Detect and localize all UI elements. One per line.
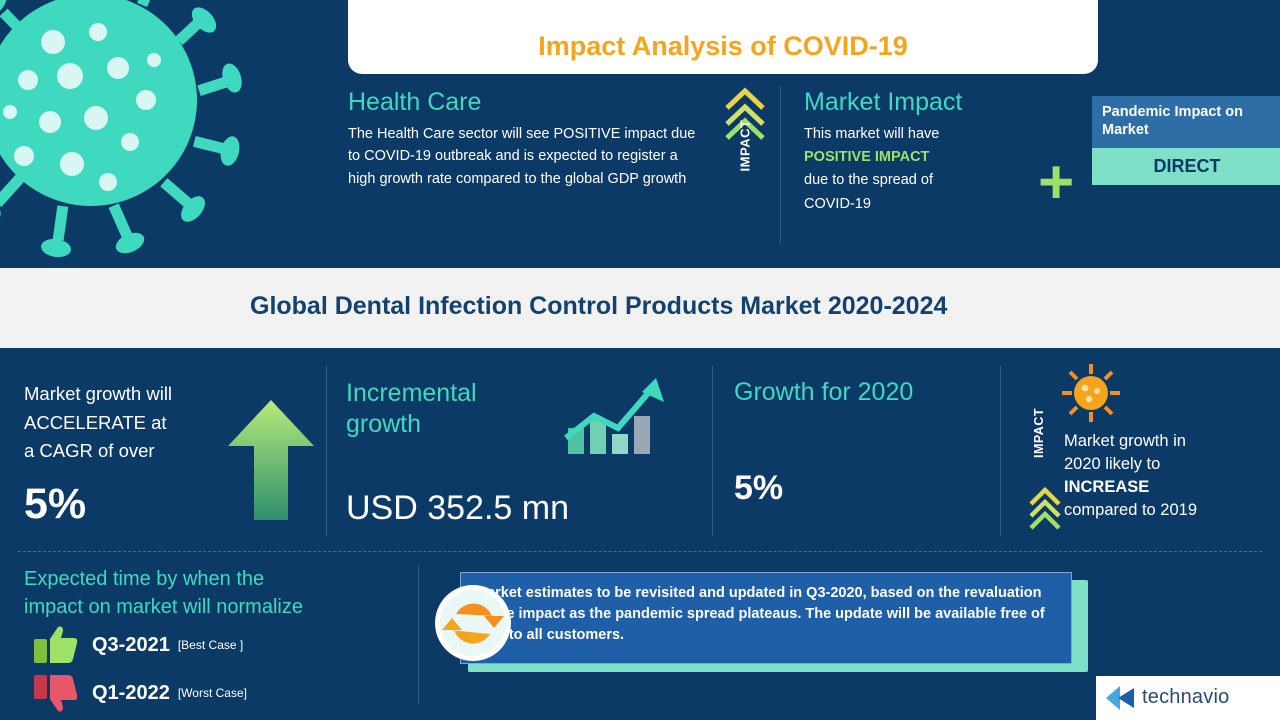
refresh-cycle-icon — [434, 584, 512, 662]
market-impact-line1: This market will have — [804, 126, 939, 142]
impact-2020-line3: compared to 2019 — [1064, 501, 1197, 519]
impact-2020-vertical-label: IMPACT — [1032, 378, 1046, 488]
impact-vertical-label: IMPACT — [738, 91, 753, 201]
market-growth-line3: a CAGR of over — [24, 440, 155, 461]
impact-indicator-top: IMPACT — [714, 86, 776, 246]
double-chevron-up-icon — [1028, 486, 1062, 530]
market-impact-line2: due to the spread of — [804, 172, 933, 188]
pandemic-impact-heading: Pandemic Impact on Market — [1092, 96, 1280, 148]
incremental-heading-line1: Incremental — [346, 379, 477, 407]
market-impact-heading: Market Impact — [804, 88, 1054, 117]
plus-icon: + — [1038, 152, 1074, 214]
growth-2020-value: 5% — [734, 469, 994, 508]
health-care-block: Health Care The Health Care sector will … — [348, 88, 708, 190]
impact-2020-line2: 2020 likely to — [1064, 455, 1160, 473]
impact-2020-line1: Market growth in — [1064, 432, 1186, 450]
divider — [1000, 366, 1001, 536]
worst-case-date: Q1-2022 — [92, 682, 170, 705]
growth-2020-heading: Growth for 2020 — [734, 378, 994, 407]
normalize-heading: Expected time by when the impact on mark… — [24, 565, 424, 621]
divider — [418, 565, 419, 705]
virus-sun-icon — [1060, 362, 1122, 424]
logo-text: technavio — [1142, 686, 1229, 709]
market-impact-line3: COVID-19 — [804, 196, 871, 212]
infographic-page: Impact Analysis of COVID-19 Health Care … — [0, 0, 1280, 720]
health-care-heading: Health Care — [348, 88, 708, 117]
best-case-label: [Best Case ] — [178, 638, 243, 652]
title-card: Impact Analysis of COVID-19 — [348, 0, 1098, 74]
best-case-date: Q3-2021 — [92, 634, 170, 657]
page-title: Impact Analysis of COVID-19 — [348, 31, 1098, 62]
divider — [712, 366, 713, 536]
top-section: Impact Analysis of COVID-19 Health Care … — [0, 0, 1280, 268]
pandemic-impact-box: Pandemic Impact on Market DIRECT — [1092, 96, 1280, 185]
thumbs-down-icon — [34, 673, 78, 713]
report-title-band: Global Dental Infection Control Products… — [0, 268, 1280, 348]
vertical-divider — [780, 86, 781, 244]
technavio-logo-icon — [1104, 684, 1142, 714]
logo-plate: technavio — [1096, 676, 1280, 720]
thumbs-up-icon — [34, 625, 78, 665]
health-care-body: The Health Care sector will see POSITIVE… — [348, 123, 708, 190]
worst-case-label: [Worst Case] — [178, 686, 247, 700]
divider — [326, 366, 327, 536]
market-impact-highlight: POSITIVE IMPACT — [804, 149, 929, 165]
up-arrow-icon — [228, 400, 314, 520]
report-title: Global Dental Infection Control Products… — [250, 292, 947, 321]
market-impact-block: Market Impact This market will have POSI… — [804, 88, 1054, 216]
normalize-heading-line1: Expected time by when the — [24, 568, 264, 590]
incremental-value: USD 352.5 mn — [346, 489, 676, 528]
growth-2020-cell: Growth for 2020 5% — [734, 378, 994, 508]
impact-2020-highlight: INCREASE — [1064, 478, 1149, 496]
impact-2020-cell: IMPACT — [1010, 362, 1278, 542]
worst-case-row: Q1-2022 [Worst Case] — [34, 673, 247, 713]
best-case-row: Q3-2021 [Best Case ] — [34, 625, 243, 665]
pandemic-impact-value: DIRECT — [1092, 148, 1280, 185]
normalize-heading-line2: impact on market will normalize — [24, 596, 303, 618]
market-growth-line2: ACCELERATE at — [24, 412, 167, 433]
coronavirus-icon — [0, 0, 288, 290]
stats-row: Market growth will ACCELERATE at a CAGR … — [0, 348, 1280, 553]
incremental-heading-line2: growth — [346, 410, 421, 438]
note-box: Market estimates to be revisited and upd… — [460, 572, 1072, 664]
upward-trend-chart-icon — [560, 376, 668, 456]
market-growth-line1: Market growth will — [24, 383, 172, 404]
